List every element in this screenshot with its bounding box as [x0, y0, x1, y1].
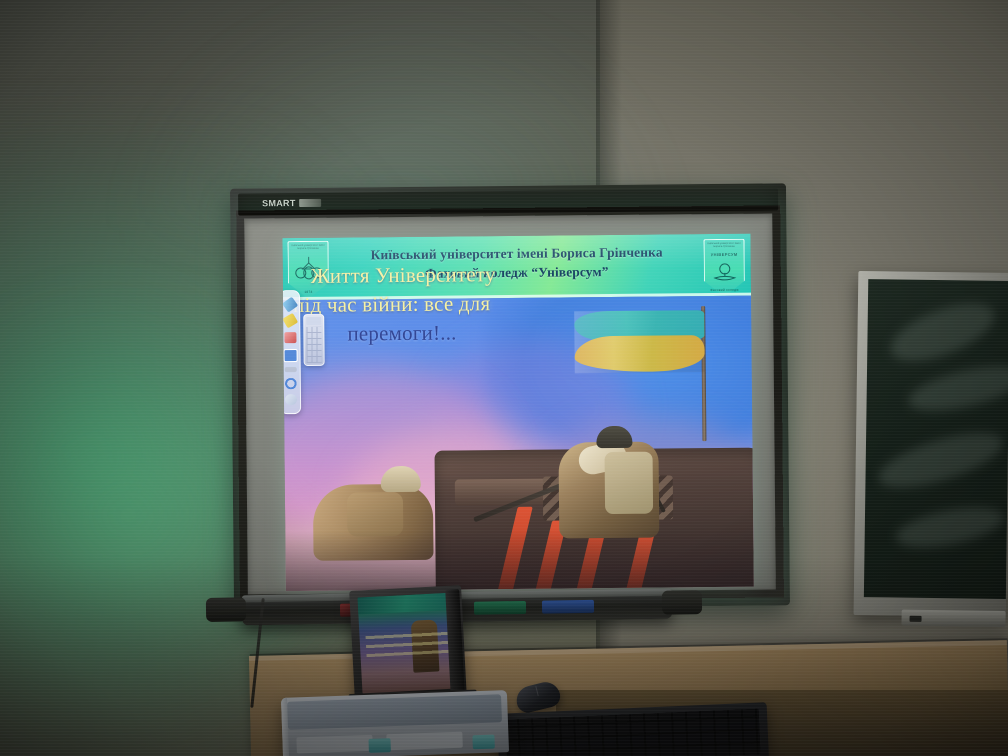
mouse-button-split [535, 686, 538, 696]
crest-tree-book-emblem [704, 258, 745, 288]
pen-tray-end-left [206, 597, 246, 622]
photo-vignette [285, 527, 754, 591]
universum-crest-icon: Київський університет імені Бориса Грінч… [703, 239, 745, 297]
classroom-scene: SMART Київський університет імені Бориса… [0, 0, 1008, 756]
ukrainian-flag-icon [574, 310, 705, 373]
chalk-smudge [883, 292, 1001, 373]
chalk-piece [910, 616, 922, 622]
highlighter-icon[interactable] [282, 313, 297, 329]
chalk-smudge [873, 422, 1008, 499]
shapes-icon[interactable] [284, 394, 296, 405]
printer-button-right[interactable] [472, 735, 494, 750]
calculator-keys[interactable] [306, 327, 321, 363]
printer-tray-left [296, 735, 373, 754]
crest-caption: Київський університет імені Бориса Грінч… [291, 244, 326, 254]
whiteboard-surface[interactable]: Київський університет імені Бориса Грінч… [244, 213, 776, 594]
crest-footer: Фаховий коледж [704, 288, 745, 292]
printer-scanner-lid[interactable] [287, 694, 502, 729]
soldier-helmet [596, 426, 632, 448]
chalk-smudge [904, 357, 1008, 419]
laptop[interactable] [349, 585, 467, 703]
eraser-icon[interactable] [284, 332, 296, 343]
printer-button-left[interactable] [368, 738, 390, 753]
pen-slot-green[interactable] [474, 601, 526, 615]
chalk-smudge [893, 500, 1008, 555]
smart-board[interactable]: SMART Київський університет імені Бориса… [230, 183, 790, 610]
soldier-helmet [381, 466, 421, 492]
calculator-widget[interactable] [303, 314, 324, 366]
smart-brand-label: SMART [262, 198, 296, 208]
pen-tray-end-right [662, 590, 702, 615]
pen-slot-blue[interactable] [542, 600, 594, 614]
headline-line-3: перемоги!... [291, 317, 591, 349]
crest-caption: Київський університет імені Бориса Грінч… [707, 242, 742, 252]
pen-icon[interactable] [282, 296, 297, 312]
soldier-vest [605, 452, 654, 514]
keyboard-keys[interactable] [505, 708, 761, 756]
projected-slide: Київський університет імені Бориса Грінч… [282, 234, 753, 591]
smart-brand-chip [299, 198, 321, 206]
laptop-slide-header [358, 593, 454, 615]
select-icon[interactable] [283, 349, 297, 362]
laptop-screen[interactable] [358, 593, 458, 694]
chalkboard [854, 271, 1008, 617]
undo-icon[interactable] [284, 378, 296, 389]
calculator-display [306, 317, 321, 325]
smart-logo: SMART [262, 196, 328, 210]
slide-headline: Життя Університету під час війни: все дл… [291, 259, 592, 349]
headline-line-2: під час війни: все для [291, 288, 591, 320]
laptop-slide-text [365, 627, 449, 657]
flag-blue-band [574, 310, 704, 340]
crest-name: УНІВЕРСУМ [704, 252, 745, 257]
headline-line-1: Життя Університету [291, 259, 591, 291]
flag-yellow-band [574, 335, 704, 372]
line-icon[interactable] [284, 367, 296, 372]
printer[interactable] [281, 690, 509, 756]
crest-shield-shape [703, 239, 745, 297]
chalkboard-surface [864, 279, 1008, 599]
printer-tray-right [386, 732, 463, 751]
smart-ink-toolbar[interactable] [282, 290, 301, 414]
